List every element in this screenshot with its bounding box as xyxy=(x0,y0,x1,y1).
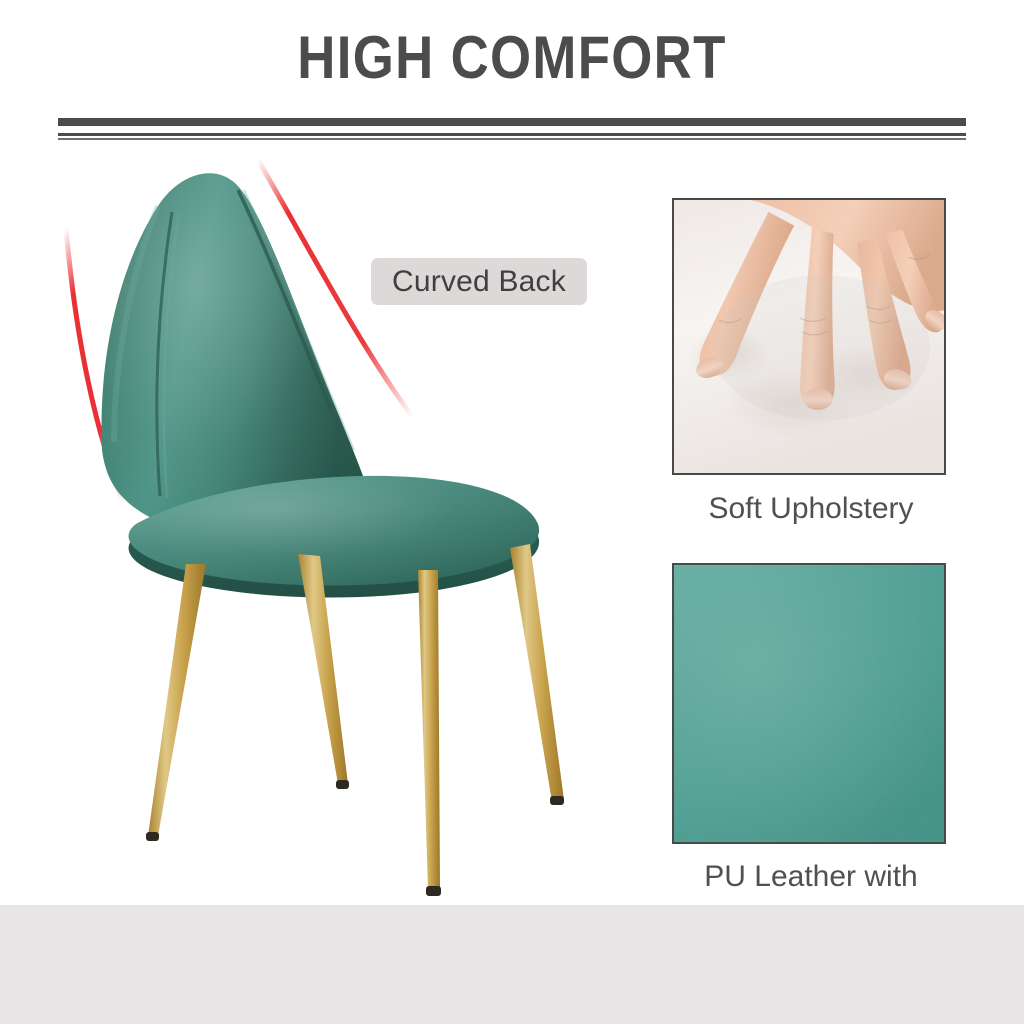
soft-upholstery-caption: Soft Upholstery xyxy=(672,489,950,530)
page-title: HIGH COMFORT xyxy=(61,28,962,88)
feature-column: Soft Upholstery xyxy=(672,198,950,938)
bottom-band xyxy=(0,905,1024,1024)
infographic-page: HIGH COMFORT xyxy=(0,0,1024,1024)
feature-soft-upholstery: Soft Upholstery xyxy=(672,198,950,530)
chair-leg-center xyxy=(418,570,440,890)
pu-leather-swatch xyxy=(672,563,946,844)
divider-thick xyxy=(58,118,966,126)
chair-leg-front-right xyxy=(510,544,564,802)
feature-pu-leather: PU Leather with Channel Tufting xyxy=(672,563,950,939)
callout-curved-back: Curved Back xyxy=(371,258,587,305)
soft-upholstery-photo xyxy=(672,198,946,475)
divider-thin-upper xyxy=(58,133,966,136)
chair-leg-front-left xyxy=(148,564,206,836)
divider-thin-lower xyxy=(58,138,966,140)
